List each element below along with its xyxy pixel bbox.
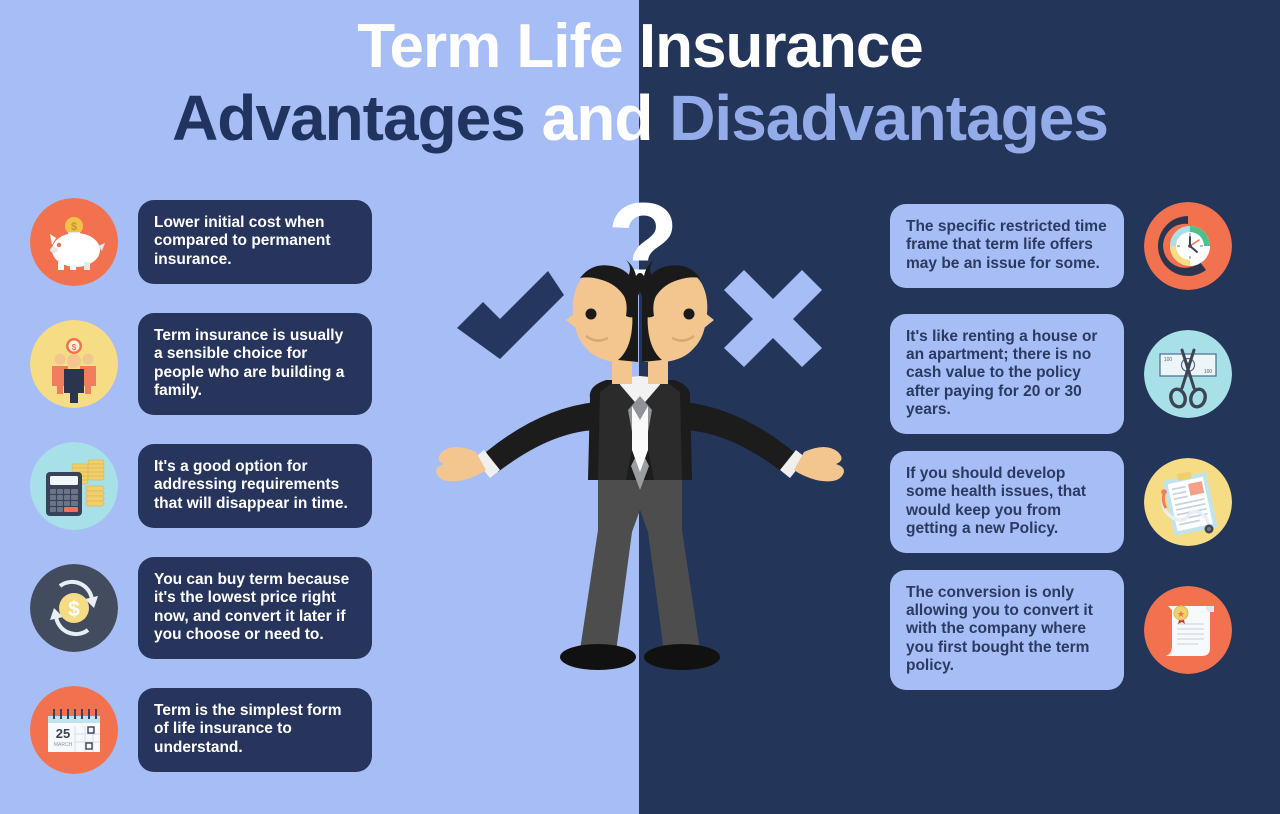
infographic-root: Term Life Insurance Advantages and Disad… xyxy=(0,0,1280,814)
bill-value-left: 100 xyxy=(1164,357,1173,363)
advantage-item[interactable]: $ Term insurance is usually a sensible c… xyxy=(30,318,390,410)
bill-value-right: 100 xyxy=(1204,369,1213,375)
advantage-item[interactable]: 25 MARCH Term is the simplest form of li… xyxy=(30,684,390,776)
svg-text:$: $ xyxy=(68,598,80,621)
advantage-text: Term insurance is usually a sensible cho… xyxy=(154,327,356,400)
advantage-item[interactable]: $ You can buy term because it's the lowe… xyxy=(30,562,390,654)
scissors-cutting-money-icon: $ 100 100 xyxy=(1144,330,1232,418)
calendar-icon: 25 MARCH xyxy=(30,686,118,774)
advantage-text: Term is the simplest form of life insura… xyxy=(154,702,356,756)
disadvantage-bubble: It's like renting a house or an apartmen… xyxy=(890,314,1124,434)
medical-clipboard-stethoscope-icon xyxy=(1144,458,1232,546)
disadvantage-item[interactable]: If you should develop some health issues… xyxy=(890,452,1250,552)
calculator-coins-icon xyxy=(30,442,118,530)
advantage-bubble: You can buy term because it's the lowest… xyxy=(138,557,372,659)
advantage-item[interactable]: It's a good option for addressing requir… xyxy=(30,440,390,532)
two-headed-businessman-illustration xyxy=(420,180,860,680)
disadvantage-text: The conversion is only allowing you to c… xyxy=(906,584,1108,675)
disadvantage-text: It's like renting a house or an apartmen… xyxy=(906,328,1108,419)
calendar-month: MARCH xyxy=(54,742,73,748)
calendar-day: 25 xyxy=(56,726,70,741)
advantage-bubble: Term is the simplest form of life insura… xyxy=(138,688,372,771)
disadvantage-item[interactable]: The conversion is only allowing you to c… xyxy=(890,580,1250,680)
svg-text:$: $ xyxy=(72,343,77,352)
disadvantage-text: If you should develop some health issues… xyxy=(906,465,1108,538)
svg-text:★: ★ xyxy=(1177,609,1185,619)
disadvantage-bubble: If you should develop some health issues… xyxy=(890,451,1124,553)
family-group-money-icon: $ xyxy=(30,320,118,408)
advantage-text: You can buy term because it's the lowest… xyxy=(154,571,356,644)
advantage-bubble: It's a good option for addressing requir… xyxy=(138,444,372,527)
advantage-bubble: Term insurance is usually a sensible cho… xyxy=(138,313,372,415)
disadvantage-item[interactable]: It's like renting a house or an apartmen… xyxy=(890,324,1250,424)
disadvantage-bubble: The conversion is only allowing you to c… xyxy=(890,570,1124,690)
certificate-scroll-icon: ★ xyxy=(1144,586,1232,674)
advantage-text: It's a good option for addressing requir… xyxy=(154,458,356,512)
dollar-coin-refresh-icon: $ xyxy=(30,564,118,652)
